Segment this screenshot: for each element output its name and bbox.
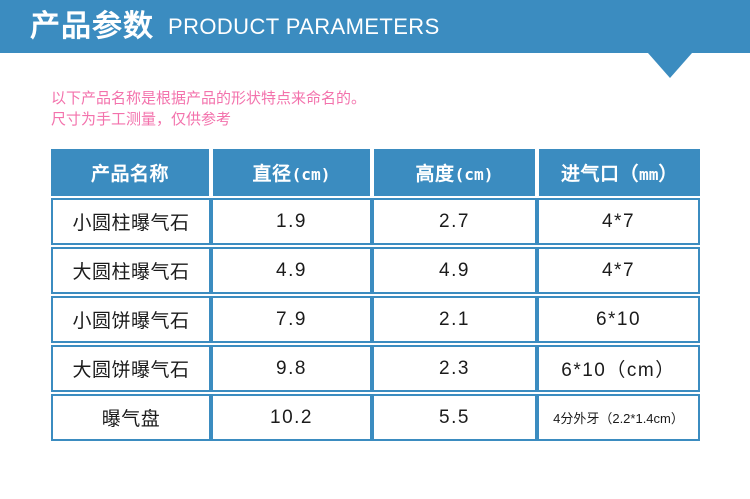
cell-product-name: 大圆饼曝气石 bbox=[51, 345, 211, 392]
cell-product-name: 大圆柱曝气石 bbox=[51, 247, 211, 294]
column-header-diameter-unit: (cm) bbox=[292, 165, 331, 184]
column-header-air-inlet: 进气口（mm） bbox=[537, 149, 700, 196]
table-row: 小圆柱曝气石 1.9 2.7 4*7 bbox=[51, 198, 700, 245]
cell-diameter: 1.9 bbox=[211, 198, 372, 245]
cell-air-inlet: 6*10（cm） bbox=[537, 345, 700, 392]
cell-height: 2.7 bbox=[372, 198, 537, 245]
cell-product-name: 小圆饼曝气石 bbox=[51, 296, 211, 343]
column-header-diameter-label: 直径 bbox=[253, 164, 292, 185]
table-row: 曝气盘 10.2 5.5 4分外牙（2.2*1.4cm） bbox=[51, 394, 700, 441]
table-row: 大圆柱曝气石 4.9 4.9 4*7 bbox=[51, 247, 700, 294]
cell-height: 2.1 bbox=[372, 296, 537, 343]
table-header-row: 产品名称 直径(cm) 高度(cm) 进气口（mm） bbox=[51, 149, 700, 196]
note-line-1: 以下产品名称是根据产品的形状特点来命名的。 bbox=[51, 88, 366, 109]
note-line-2: 尺寸为手工测量，仅供参考 bbox=[51, 109, 366, 130]
cell-diameter: 9.8 bbox=[211, 345, 372, 392]
cell-height: 4.9 bbox=[372, 247, 537, 294]
cell-diameter: 4.9 bbox=[211, 247, 372, 294]
page-banner: 产品参数 PRODUCT PARAMETERS bbox=[0, 0, 750, 53]
column-header-product-name-label: 产品名称 bbox=[91, 164, 169, 185]
banner-title-group: 产品参数 PRODUCT PARAMETERS bbox=[30, 0, 440, 53]
column-header-air-inlet-label: 进气口（ bbox=[561, 164, 639, 185]
column-header-height-unit: (cm) bbox=[455, 165, 494, 184]
cell-air-inlet: 4*7 bbox=[537, 247, 700, 294]
table-row: 小圆饼曝气石 7.9 2.1 6*10 bbox=[51, 296, 700, 343]
cell-air-inlet: 4分外牙（2.2*1.4cm） bbox=[537, 394, 700, 441]
cell-height: 5.5 bbox=[372, 394, 537, 441]
cell-air-inlet: 4*7 bbox=[537, 198, 700, 245]
table-header: 产品名称 直径(cm) 高度(cm) 进气口（mm） bbox=[51, 149, 700, 196]
column-header-air-inlet-suffix: ） bbox=[658, 164, 678, 185]
cell-product-name: 曝气盘 bbox=[51, 394, 211, 441]
column-header-air-inlet-unit: mm bbox=[639, 165, 658, 184]
banner-title-english: PRODUCT PARAMETERS bbox=[168, 16, 440, 38]
cell-air-inlet: 6*10 bbox=[537, 296, 700, 343]
cell-product-name: 小圆柱曝气石 bbox=[51, 198, 211, 245]
down-arrow-icon bbox=[648, 53, 692, 78]
notes-block: 以下产品名称是根据产品的形状特点来命名的。 尺寸为手工测量，仅供参考 bbox=[51, 88, 366, 130]
column-header-height-label: 高度 bbox=[416, 164, 455, 185]
cell-height: 2.3 bbox=[372, 345, 537, 392]
column-header-diameter: 直径(cm) bbox=[211, 149, 372, 196]
table-body: 小圆柱曝气石 1.9 2.7 4*7 大圆柱曝气石 4.9 4.9 4*7 小圆… bbox=[51, 198, 700, 441]
table-row: 大圆饼曝气石 9.8 2.3 6*10（cm） bbox=[51, 345, 700, 392]
cell-diameter: 7.9 bbox=[211, 296, 372, 343]
banner-title-chinese: 产品参数 bbox=[30, 12, 154, 42]
column-header-height: 高度(cm) bbox=[372, 149, 537, 196]
cell-diameter: 10.2 bbox=[211, 394, 372, 441]
column-header-product-name: 产品名称 bbox=[51, 149, 211, 196]
product-parameters-table: 产品名称 直径(cm) 高度(cm) 进气口（mm） 小圆柱曝气石 1.9 2.… bbox=[51, 147, 700, 443]
